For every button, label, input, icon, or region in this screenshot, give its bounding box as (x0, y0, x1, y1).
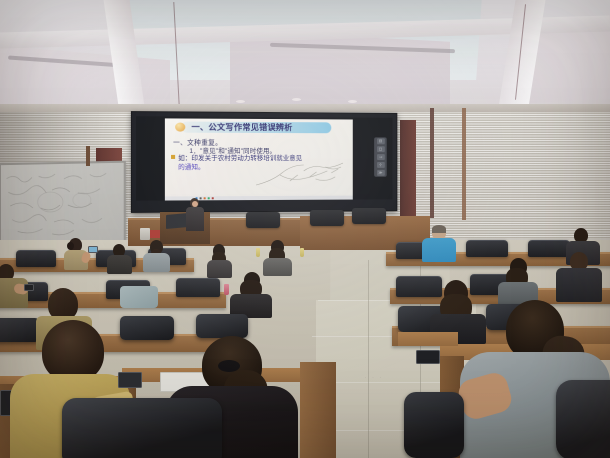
person-head (42, 320, 104, 382)
chair[interactable] (466, 240, 508, 257)
chair-foreground[interactable] (62, 398, 222, 458)
display-control-panel[interactable]: ⊡ ◻ ◅ ⊹ ≫ (374, 137, 387, 176)
whiteboard-writing (1, 163, 124, 248)
control-button-3[interactable]: ◅ (377, 154, 385, 160)
person-torso (422, 238, 456, 262)
wall-top-trim (0, 104, 610, 112)
chair[interactable] (196, 314, 248, 338)
presenter-body (186, 207, 204, 231)
slide-ink-painting-decoration (256, 159, 351, 193)
presentation-display[interactable]: 一、公文写作常见错误辨析 一、文种重复。 1．"意见"和"通知"同时使用。 如：… (131, 111, 397, 213)
smartphone[interactable] (24, 284, 34, 291)
slide-title: 一、公文写作常见错误辨析 (191, 121, 331, 133)
slide-bullet-orb-icon (175, 123, 185, 132)
control-button-1[interactable]: ⊡ (377, 138, 385, 144)
water-bottle[interactable] (300, 248, 304, 257)
person-row2-far-right (556, 252, 602, 300)
taskbar-app-icon[interactable] (212, 197, 214, 199)
chair-foreground-aisle[interactable] (404, 392, 464, 458)
control-button-4[interactable]: ⊹ (377, 162, 385, 168)
whiteboard-easel-post (86, 146, 90, 166)
person-row1-a (62, 238, 88, 268)
floor-tile-line-v (368, 260, 369, 458)
smartphone-in-hand[interactable] (118, 372, 142, 388)
stage-chair[interactable] (352, 208, 386, 224)
downlight (348, 100, 357, 103)
person-row2-right (498, 258, 538, 302)
person-torso (556, 268, 602, 302)
downlight (292, 98, 301, 101)
floor-emblem: · · · (352, 375, 396, 389)
ceiling-coffer-center (230, 30, 450, 116)
wall-trim-strip-1 (430, 108, 434, 218)
whiteboard (0, 161, 126, 250)
display-panel: 一、公文写作常见错误辨析 一、文种重复。 1．"意见"和"通知"同时使用。 如：… (136, 116, 392, 200)
red-box-on-stage (150, 230, 160, 238)
stage-chair[interactable] (310, 210, 344, 226)
person-row1-e (262, 240, 292, 274)
person-row1-d (206, 244, 232, 274)
downlight (236, 100, 245, 103)
person-torso (143, 253, 170, 272)
wall-trim-strip-2 (462, 108, 466, 220)
stage-chair[interactable] (246, 212, 280, 228)
slide-square-bullet-icon (171, 155, 175, 159)
slide-line-4: 的通知。 (178, 162, 204, 171)
water-bottle[interactable] (224, 284, 229, 295)
person-row1-c (142, 240, 170, 270)
hair-tie (218, 360, 240, 372)
smartphone[interactable] (88, 246, 98, 253)
tablet-on-desk[interactable] (416, 350, 440, 364)
water-bottle[interactable] (256, 248, 260, 257)
slide-content: 一、公文写作常见错误辨析 一、文种重复。 1．"意见"和"通知"同时使用。 如：… (165, 118, 353, 197)
presenter (186, 198, 204, 232)
desk-right-upper (398, 332, 458, 346)
taskbar-app-icon[interactable] (208, 197, 210, 199)
chair[interactable] (176, 278, 220, 297)
desk-end-center (300, 362, 336, 458)
person-torso (107, 255, 132, 274)
person-row2-center (230, 272, 272, 316)
waste-bin (140, 228, 150, 240)
person-blue-shirt (422, 226, 456, 260)
person-hair-bun (67, 242, 74, 250)
person-row1-b (106, 244, 132, 272)
ceiling (0, 0, 610, 118)
person-hair (432, 225, 446, 233)
person-torso (207, 260, 232, 278)
lecture-hall-photo: 一、公文写作常见错误辨析 一、文种重复。 1．"意见"和"通知"同时使用。 如：… (0, 0, 610, 458)
slide-line-3: 如：印发关于农村劳动力转移培训就业意见 (178, 153, 302, 162)
presenter-laptop[interactable] (166, 213, 188, 229)
handbag-on-chair[interactable] (120, 286, 158, 308)
chair-foreground-right[interactable] (556, 380, 610, 458)
control-button-2[interactable]: ◻ (377, 146, 385, 152)
control-button-5[interactable]: ≫ (377, 170, 385, 176)
